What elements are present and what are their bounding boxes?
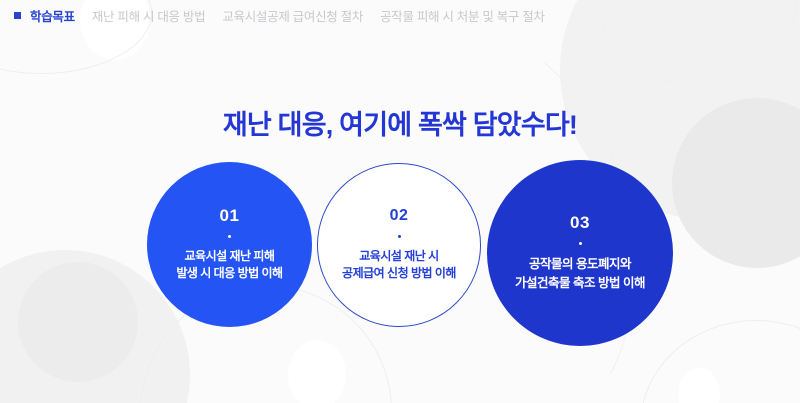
dot-separator-icon [579,242,582,245]
objective-circle-03[interactable]: 03 공작물의 용도폐지와 가설건축물 축조 방법 이해 [487,160,673,346]
square-bullet-icon [14,12,21,19]
objective-number: 02 [390,208,409,224]
objective-number: 01 [220,207,240,224]
objective-description-line-2: 가설건축물 축조 방법 이해 [515,274,645,292]
slide-canvas: 학습목표 재난 피해 시 대응 방법 교육시설공제 급여신청 절차 공작물 피해… [0,0,800,403]
objective-circle-02[interactable]: 02 교육시설 재난 시 공제급여 신청 방법 이해 [317,163,481,327]
objective-description-line-1: 교육시설 재난 시 [342,248,456,265]
header-item-insurance-claim[interactable]: 교육시설공제 급여신청 절차 [222,6,363,25]
objective-description-line-1: 교육시설 재난 피해 [176,248,282,265]
slide-header-nav: 학습목표 재난 피해 시 대응 방법 교육시설공제 급여신청 절차 공작물 피해… [0,0,800,31]
objective-number: 03 [570,214,590,231]
dot-separator-icon [398,235,401,238]
objective-circle-01[interactable]: 01 교육시설 재난 피해 발생 시 대응 방법 이해 [147,162,312,327]
objective-description: 공작물의 용도폐지와 가설건축물 축조 방법 이해 [515,255,645,291]
dot-separator-icon [228,235,231,238]
header-item-learning-objectives[interactable]: 학습목표 [30,6,75,25]
objective-description: 교육시설 재난 시 공제급여 신청 방법 이해 [342,248,456,283]
objective-description-line-2: 발생 시 대응 방법 이해 [176,265,282,282]
objective-description-line-2: 공제급여 신청 방법 이해 [342,265,456,282]
header-item-structure-recovery[interactable]: 공작물 피해 시 처분 및 복구 절차 [380,6,545,25]
objective-description: 교육시설 재난 피해 발생 시 대응 방법 이해 [176,248,282,283]
objective-description-line-1: 공작물의 용도폐지와 [515,255,645,273]
objectives-group: 01 교육시설 재난 피해 발생 시 대응 방법 이해 02 교육시설 재난 시… [0,0,800,403]
page-title: 재난 대응, 여기에 폭싹 담았수다! [0,103,800,142]
header-item-disaster-response[interactable]: 재난 피해 시 대응 방법 [92,6,206,25]
